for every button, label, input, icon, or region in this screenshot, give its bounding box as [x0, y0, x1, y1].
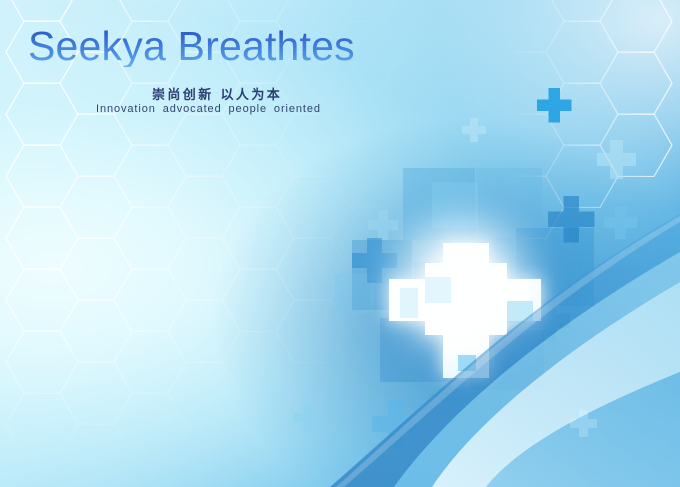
cross-mosaic — [0, 0, 680, 487]
slogan-english: Innovation advocated people oriented — [96, 103, 321, 115]
wave-mid-band — [394, 252, 680, 487]
wave-bands — [0, 0, 680, 487]
medical-cross-emblem — [0, 0, 680, 487]
poster-canvas: Seekya Breathtes 崇尚创新 以人为本 Innovation ad… — [0, 0, 680, 487]
wave-dark-band — [330, 214, 680, 487]
hexagon-lattice — [0, 0, 680, 487]
page-title: Seekya Breathtes — [28, 26, 355, 67]
background-center-depth — [0, 0, 680, 487]
wave-pale-band — [486, 372, 680, 487]
wave-light-band — [432, 282, 680, 487]
background-base-gradient — [0, 0, 680, 487]
background-topright-glow — [0, 0, 680, 487]
slogan-chinese: 崇尚创新 以人为本 — [152, 84, 282, 103]
